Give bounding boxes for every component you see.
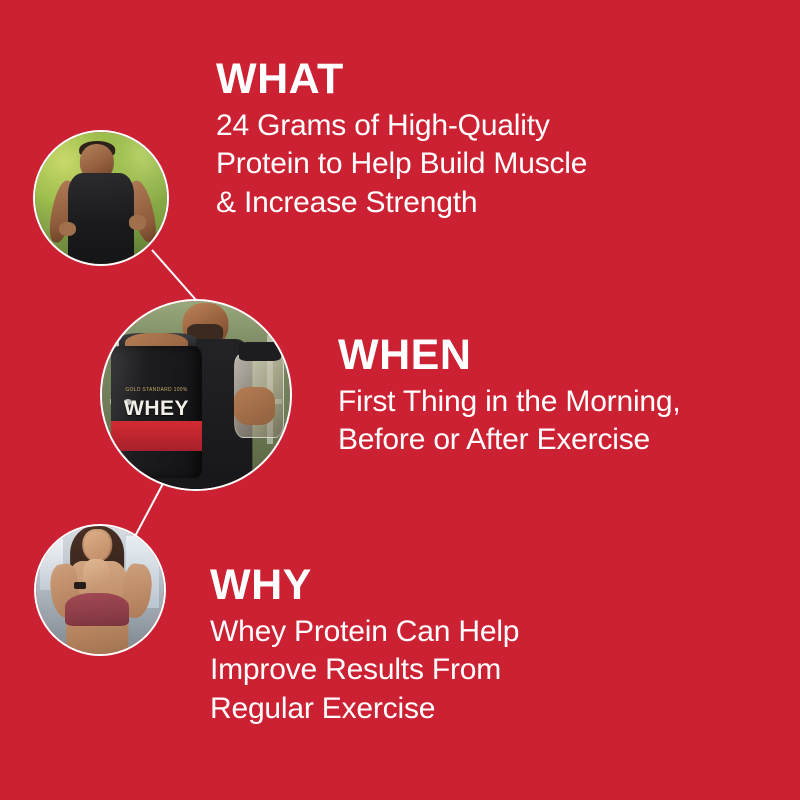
woman-sports-bra (65, 593, 129, 626)
shaker-bottle-cap (239, 342, 280, 361)
section-why-heading: WHY (210, 564, 660, 607)
whey-tub-photo: GOLD STANDARD 100% WHEY (100, 299, 292, 491)
whey-tub-photo-inner: GOLD STANDARD 100% WHEY (102, 301, 290, 489)
woman-wrist-watch (74, 582, 86, 588)
woman-face (85, 531, 111, 560)
whey-tub-label: WHEY (113, 397, 199, 421)
runner-fist-right (129, 215, 146, 230)
woman-athlete-photo-inner (36, 526, 164, 654)
whey-tub-sub-label: GOLD STANDARD 100% (117, 387, 196, 393)
runner-tank-top (68, 173, 134, 264)
woman-athlete-photo (34, 524, 166, 656)
section-when-heading: WHEN (338, 334, 788, 377)
section-what-heading: WHAT (216, 58, 736, 101)
whey-scene: GOLD STANDARD 100% WHEY (102, 301, 290, 489)
section-why: WHY Whey Protein Can Help Improve Result… (210, 564, 660, 728)
runner-fist-left (59, 222, 76, 237)
runner-scene (35, 132, 167, 264)
section-what: WHAT 24 Grams of High-Quality Protein to… (216, 58, 736, 222)
male-runner-photo (33, 130, 169, 266)
male-runner-photo-inner (35, 132, 167, 264)
woman-scene (36, 526, 164, 654)
section-when: WHEN First Thing in the Morning, Before … (338, 334, 788, 460)
whey-protein-infographic: GOLD STANDARD 100% WHEY (0, 0, 800, 800)
whey-man-hand-right (234, 387, 275, 425)
section-what-body: 24 Grams of High-Quality Protein to Help… (216, 107, 736, 222)
whey-tub-red-band (111, 421, 201, 451)
section-when-body: First Thing in the Morning, Before or Af… (338, 383, 788, 460)
section-why-body: Whey Protein Can Help Improve Results Fr… (210, 613, 660, 728)
woman-clasped-hands (83, 559, 109, 590)
